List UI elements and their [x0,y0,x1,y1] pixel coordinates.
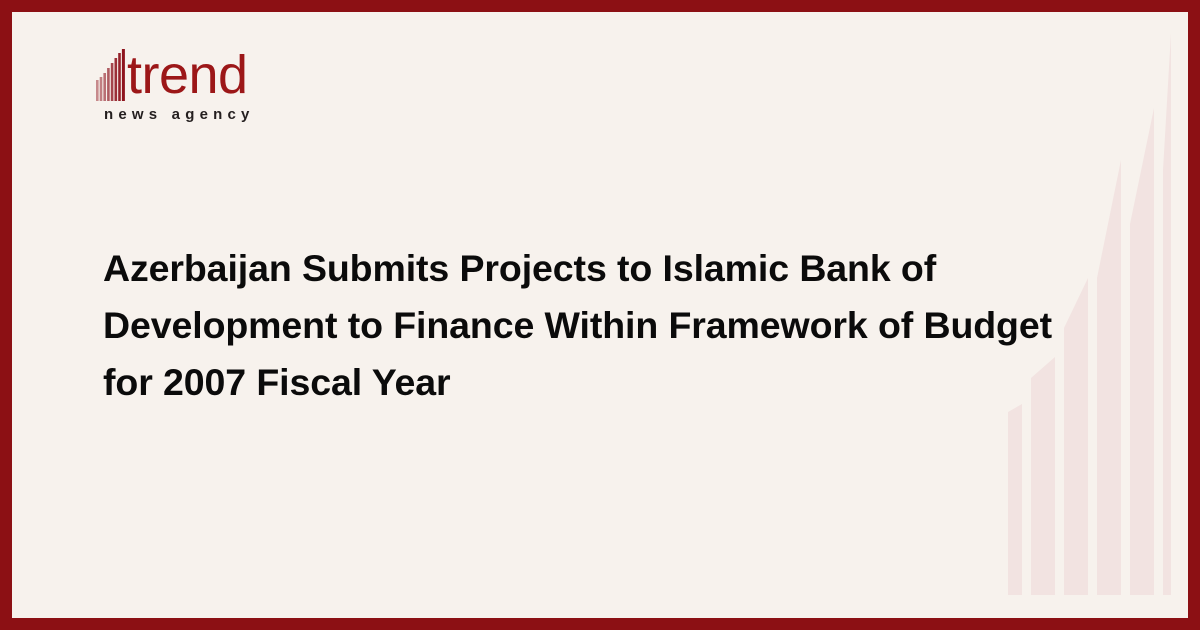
trend-rising-bars-mark [96,49,126,101]
logo-tagline: news agency [104,106,396,124]
logo-primary-row: trend [96,45,396,101]
trend-news-agency-logo[interactable]: trend news agency [96,45,396,124]
news-share-card: trend news agency Azerbaijan Submits Pro… [0,0,1200,630]
page-title: Azerbaijan Submits Projects to Islamic B… [103,240,1083,411]
logo-wordmark: trend [127,49,248,101]
card-inner-surface: trend news agency Azerbaijan Submits Pro… [12,12,1188,618]
